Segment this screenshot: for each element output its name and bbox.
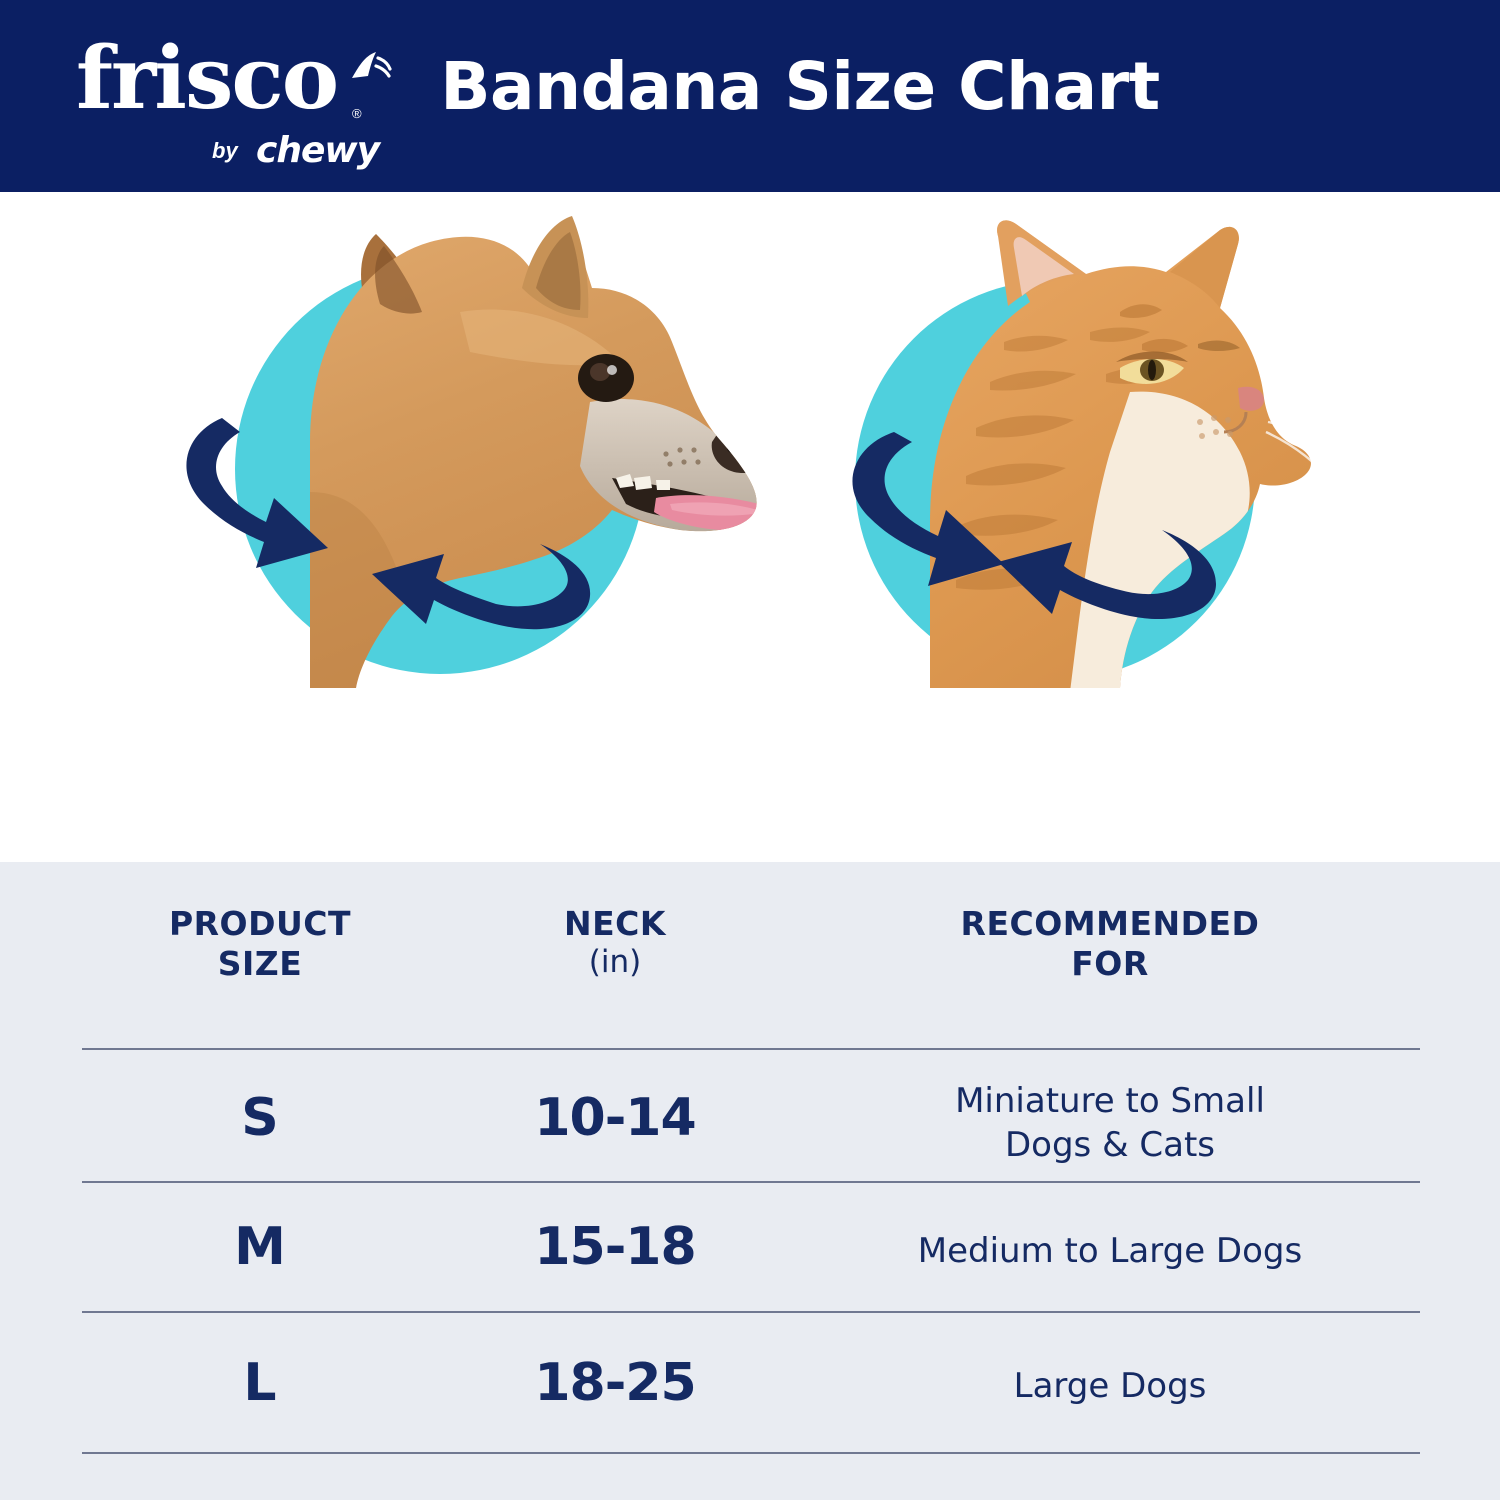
cat-illustration: NECK (790, 192, 1430, 862)
cell-neck: 18-25 (465, 1353, 765, 1413)
column-header-neck: NECK (in) (465, 904, 765, 982)
dog-illustration: NECK (160, 192, 800, 862)
column-header-product-size: PRODUCT SIZE (110, 904, 410, 985)
page-header: frisco ® by chewy Bandana Size Chart (0, 0, 1500, 192)
cell-recommended-for-line1: Large Dogs (1014, 1366, 1207, 1406)
column-header-recommended-for-line2: FOR (1071, 944, 1149, 983)
cell-product-size: S (110, 1088, 410, 1148)
illustrations-area: NECK (0, 192, 1500, 862)
column-header-recommended-for-line1: RECOMMENDED (961, 904, 1260, 943)
cell-recommended-for: Large Dogs (880, 1364, 1340, 1408)
cell-neck: 10-14 (465, 1088, 765, 1148)
logo-chewy-wordmark: chewy (256, 130, 379, 171)
cell-recommended-for: Medium to Large Dogs (880, 1229, 1340, 1273)
column-header-neck-line1: NECK (564, 904, 666, 943)
column-header-product-size-line1: PRODUCT (169, 904, 351, 943)
column-header-neck-unit: (in) (465, 944, 765, 982)
cell-neck: 15-18 (465, 1217, 765, 1277)
bandana-size-chart-page: frisco ® by chewy Bandana Size Chart (0, 0, 1500, 1500)
table-row: M 15-18 Medium to Large Dogs (0, 1181, 1500, 1311)
table-divider (82, 1452, 1420, 1454)
dog-graphic (160, 192, 800, 752)
size-table: PRODUCT SIZE NECK (in) RECOMMENDED FOR S… (0, 862, 1500, 1500)
column-header-product-size-line2: SIZE (218, 944, 303, 983)
page-title: Bandana Size Chart (0, 48, 1500, 125)
cell-recommended-for-line1: Medium to Large Dogs (918, 1231, 1302, 1271)
cell-recommended-for-line1: Miniature to Small (955, 1081, 1265, 1121)
cell-product-size: M (110, 1217, 410, 1277)
table-row: L 18-25 Large Dogs (0, 1311, 1500, 1452)
cell-recommended-for-line2: Dogs & Cats (1005, 1125, 1215, 1165)
table-header-row: PRODUCT SIZE NECK (in) RECOMMENDED FOR (0, 862, 1500, 1048)
column-header-recommended-for: RECOMMENDED FOR (910, 904, 1310, 985)
logo-byline-prefix: by (212, 138, 238, 164)
cat-graphic (790, 192, 1430, 752)
cell-product-size: L (110, 1353, 410, 1413)
cell-recommended-for: Miniature to Small Dogs & Cats (880, 1079, 1340, 1167)
table-row: S 10-14 Miniature to Small Dogs & Cats (0, 1048, 1500, 1181)
